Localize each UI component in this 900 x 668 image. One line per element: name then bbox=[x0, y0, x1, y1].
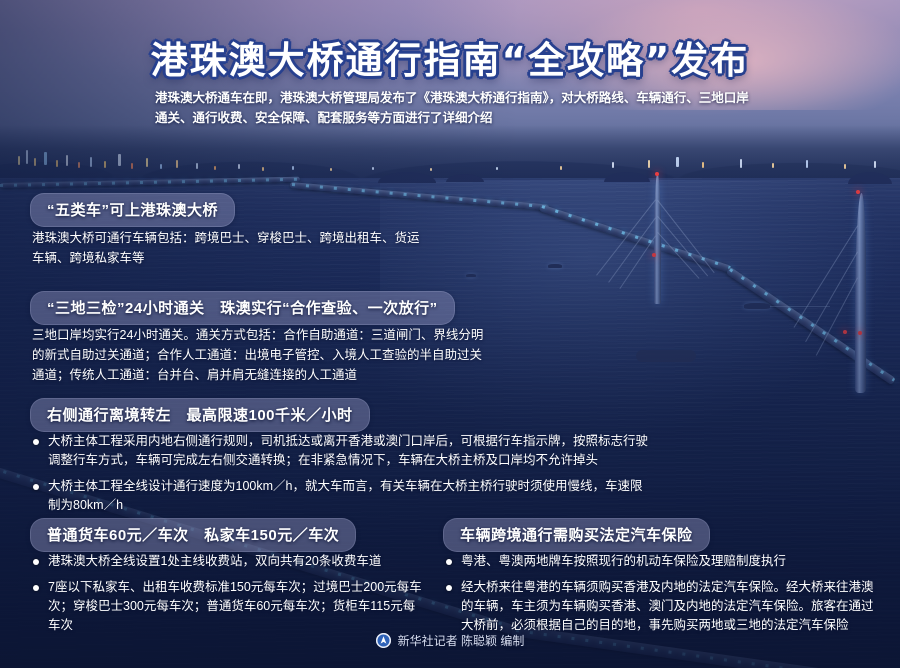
bullet-list-insurance: 粤港、粤澳两地牌车按照现行的机动车保险及理赔制度执行 经大桥来往粤港的车辆须购买… bbox=[445, 552, 877, 642]
page-subtitle: 港珠澳大桥通车在即，港珠澳大桥管理局发布了《港珠澳大桥通行指南》，对大桥路线、车… bbox=[155, 88, 755, 128]
section-heading-customs-clearance: “三地三检”24小时通关 珠澳实行“合作查验、一次放行” bbox=[30, 291, 455, 325]
list-item: 粤港、粤澳两地牌车按照现行的机动车保险及理赔制度执行 bbox=[445, 552, 877, 571]
section-heading-vehicle-types: “五类车”可上港珠澳大桥 bbox=[30, 193, 235, 227]
section-heading-insurance: 车辆跨境通行需购买法定汽车保险 bbox=[443, 518, 710, 552]
list-item: 大桥主体工程采用内地右侧通行规则，司机抵达或离开香港或澳门口岸后，可根据行车指示… bbox=[32, 432, 648, 470]
xinhua-logo-icon bbox=[376, 633, 391, 648]
infographic-poster: 港珠澳大桥通行指南“全攻略”发布 港珠澳大桥通车在即，港珠澳大桥管理局发布了《港… bbox=[0, 0, 900, 668]
poster-content: 港珠澳大桥通行指南“全攻略”发布 港珠澳大桥通车在即，港珠澳大桥管理局发布了《港… bbox=[0, 0, 900, 668]
section-paragraph-customs-clearance: 三地口岸均实行24小时通关。通关方式包括：合作自助通道：三道闸门、界线分明的新式… bbox=[32, 325, 494, 385]
page-title: 港珠澳大桥通行指南“全攻略”发布 bbox=[0, 30, 900, 84]
section-heading-tolls: 普通货车60元／车次 私家车150元／车次 bbox=[30, 518, 356, 552]
list-item: 港珠澳大桥全线设置1处主线收费站，双向共有20条收费车道 bbox=[32, 552, 424, 571]
section-heading-driving-rules: 右侧通行离境转左 最高限速100千米／小时 bbox=[30, 398, 370, 432]
list-item: 经大桥来往粤港的车辆须购买香港及内地的法定汽车保险。经大桥来往港澳的车辆，车主须… bbox=[445, 578, 877, 635]
section-paragraph-vehicle-types: 港珠澳大桥可通行车辆包括：跨境巴士、穿梭巴士、跨境出租车、货运车辆、跨境私家车等 bbox=[32, 228, 422, 268]
bullet-list-tolls: 港珠澳大桥全线设置1处主线收费站，双向共有20条收费车道 7座以下私家车、出租车… bbox=[32, 552, 424, 642]
footer-credit-text: 新华社记者 陈聪颖 编制 bbox=[398, 632, 525, 649]
footer-credit: 新华社记者 陈聪颖 编制 bbox=[0, 632, 900, 649]
bullet-list-driving-rules: 大桥主体工程采用内地右侧通行规则，司机抵达或离开香港或澳门口岸后，可根据行车指示… bbox=[32, 432, 648, 522]
list-item: 7座以下私家车、出租车收费标准150元每车次；过境巴士200元每车次；穿梭巴士3… bbox=[32, 578, 424, 635]
list-item: 大桥主体工程全线设计通行速度为100km／h，就大车而言，有关车辆在大桥主桥行驶… bbox=[32, 477, 648, 515]
